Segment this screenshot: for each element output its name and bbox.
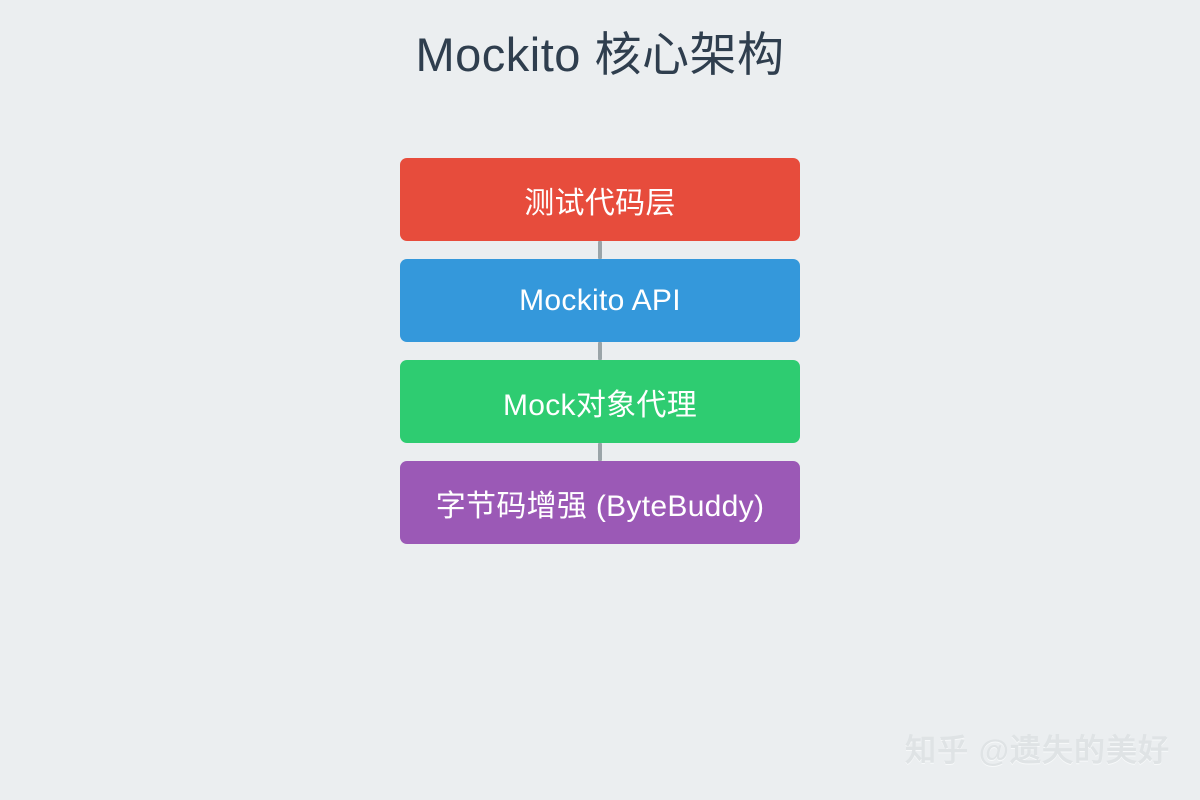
layer-box-mockito-api[interactable]: Mockito API <box>400 259 800 342</box>
layer-box-bytecode-enhancement[interactable]: 字节码增强 (ByteBuddy) <box>400 461 800 544</box>
layer-box-mock-object-proxy[interactable]: Mock对象代理 <box>400 360 800 443</box>
connector-2-3 <box>400 342 800 360</box>
page-title: Mockito 核心架构 <box>0 28 1200 82</box>
layer-row: Mockito API <box>400 259 800 342</box>
diagram-canvas: Mockito 核心架构 测试代码层 Mockito API Mock对象代理 … <box>0 0 1200 800</box>
watermark: 知乎 @遗失的美好 <box>905 725 1170 770</box>
connector-1-2 <box>400 241 800 259</box>
connector-3-4 <box>400 443 800 461</box>
layer-box-test-code-layer[interactable]: 测试代码层 <box>400 158 800 241</box>
layer-row: 字节码增强 (ByteBuddy) <box>400 461 800 544</box>
layer-stack: 测试代码层 Mockito API Mock对象代理 字节码增强 (ByteBu… <box>400 158 800 544</box>
layer-row: 测试代码层 <box>400 158 800 241</box>
layer-row: Mock对象代理 <box>400 360 800 443</box>
